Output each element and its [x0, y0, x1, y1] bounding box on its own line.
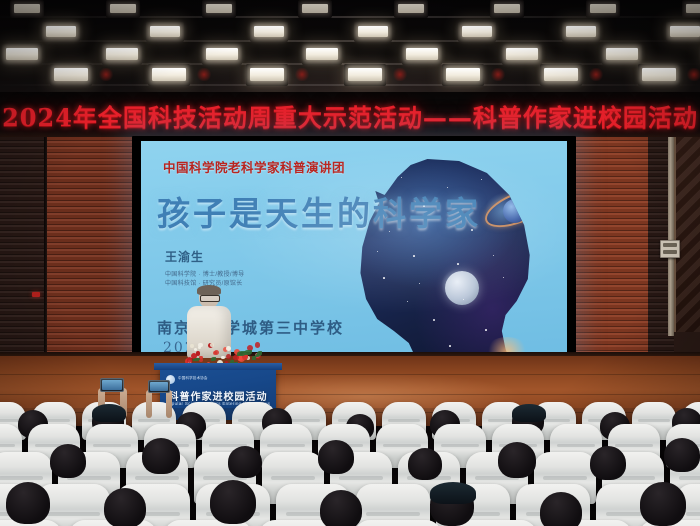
eyeglasses-icon	[200, 295, 220, 302]
audience-member-head	[104, 488, 146, 526]
stage-light	[686, 4, 700, 13]
smartphone-screen	[102, 380, 122, 390]
star-icon	[407, 301, 408, 302]
raised-arm	[146, 390, 152, 418]
stage-light	[46, 26, 76, 37]
stage-light	[670, 26, 700, 37]
stage-light	[590, 4, 616, 13]
red-accent-light	[490, 68, 506, 81]
star-icon	[383, 277, 385, 279]
baseball-cap	[512, 404, 546, 422]
event-banner: 2024年全国科技活动周重大示范活动——科普作家进校园活动	[0, 92, 700, 137]
audience-member-head	[228, 446, 262, 478]
presenter-hair	[197, 285, 221, 295]
red-accent-light	[98, 68, 114, 81]
stage-light	[110, 4, 136, 13]
star-icon	[419, 283, 420, 284]
audience-member-head	[408, 448, 442, 480]
flower-blossom	[255, 342, 261, 348]
audience-area	[0, 408, 700, 526]
star-icon	[481, 179, 482, 180]
stage-light	[494, 4, 520, 13]
podium-org-label: 中国科学技术协会	[178, 376, 208, 381]
event-banner-text: 2024年全国科技活动周重大示范活动——科普作家进校园活动	[0, 98, 700, 133]
ceiling-truss	[0, 0, 700, 96]
star-icon	[413, 255, 415, 257]
flower-blossom	[221, 356, 225, 360]
auditorium-seat	[354, 520, 442, 526]
smartphone-screen	[150, 382, 168, 391]
baseball-cap	[430, 482, 476, 504]
slide-title: 孩子是天生的科学家	[157, 187, 481, 235]
stage-light	[506, 48, 538, 60]
stage-light	[398, 4, 424, 13]
flower-blossom	[198, 343, 202, 347]
audience-member-head	[664, 438, 700, 472]
stage-light	[206, 4, 232, 13]
audience-member-head	[540, 492, 582, 526]
flower-blossom	[213, 351, 217, 355]
slide-speaker-name: 王渝生	[165, 248, 204, 265]
star-icon	[503, 277, 504, 278]
star-icon	[399, 341, 400, 342]
auditorium-photo: 2024年全国科技活动周重大示范活动——科普作家进校园活动 中国科学院老科学家科…	[0, 0, 700, 526]
red-accent-light	[392, 68, 408, 81]
raised-arm	[166, 390, 172, 418]
flower-blossom	[226, 346, 231, 351]
flower-blossom	[210, 343, 214, 347]
stage-light	[446, 68, 480, 81]
flower-leaf	[193, 358, 200, 361]
stage-light	[254, 26, 284, 37]
red-accent-light	[588, 68, 604, 81]
slide-organization: 中国科学院老科学家科普演讲团	[163, 157, 345, 176]
stage-light	[250, 68, 284, 81]
exit-indicator	[32, 292, 40, 297]
red-accent-light	[196, 68, 212, 81]
flower-blossom	[190, 344, 194, 348]
stage-light	[306, 48, 338, 60]
stage-light	[106, 48, 138, 60]
audience-member-head	[210, 480, 256, 524]
star-icon	[493, 255, 494, 256]
stage-light	[302, 4, 328, 13]
stage-light	[206, 48, 238, 60]
stage-light	[6, 48, 38, 60]
stage-light	[348, 68, 382, 81]
stage-light	[358, 26, 388, 37]
flower-leaf	[257, 351, 262, 356]
audience-member-head	[640, 482, 686, 526]
moon-icon	[445, 271, 479, 305]
side-door[interactable]	[674, 120, 700, 332]
stage-light	[406, 48, 438, 60]
podium-top	[154, 363, 282, 370]
smartphone[interactable]	[100, 378, 124, 392]
star-icon	[401, 177, 402, 178]
audience-member-head	[318, 440, 354, 474]
audience-member-head	[6, 482, 50, 524]
stage-light	[566, 26, 596, 37]
star-icon	[433, 319, 435, 321]
stage-light	[152, 68, 186, 81]
baseball-cap	[92, 404, 126, 422]
star-icon	[485, 329, 487, 331]
smartphone[interactable]	[148, 380, 170, 393]
slide-credential-1: 中国科学院 · 博士/教授/博导	[165, 269, 244, 278]
audience-member-head	[320, 490, 362, 526]
audience-member-head	[498, 442, 536, 478]
wall-control-panel[interactable]	[660, 240, 680, 258]
star-icon	[377, 251, 378, 252]
stage-light	[14, 4, 40, 13]
red-accent-light	[686, 68, 700, 81]
audience-member-head	[50, 444, 86, 478]
stage-light	[606, 48, 638, 60]
audience-member-head	[590, 446, 626, 480]
audience-member-head	[142, 438, 180, 474]
stage-light	[150, 26, 180, 37]
star-icon	[449, 345, 451, 347]
stage-light	[54, 68, 88, 81]
star-icon	[457, 263, 459, 265]
planet-icon	[503, 199, 527, 223]
flower-blossom	[226, 354, 231, 359]
stage-light	[462, 26, 492, 37]
stage-light	[544, 68, 578, 81]
cosmic-child-artwork	[335, 151, 565, 355]
flower-leaf	[211, 357, 217, 361]
red-accent-light	[294, 68, 310, 81]
planet-ring-icon	[480, 181, 556, 235]
stage-light	[642, 68, 676, 81]
